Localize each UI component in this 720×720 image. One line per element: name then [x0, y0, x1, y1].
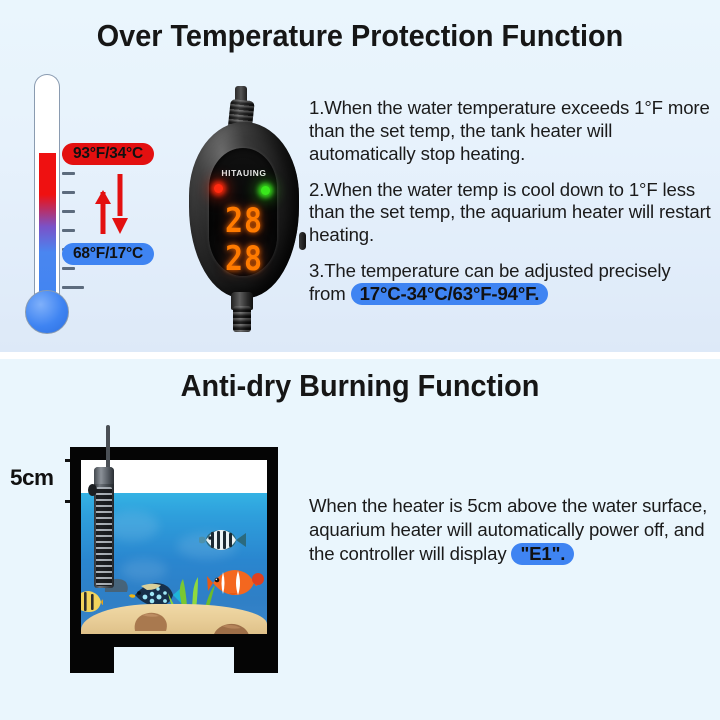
tank-leg-left	[70, 647, 114, 673]
heater-rod-cap	[94, 467, 114, 484]
temperature-range-highlight: 17°C-34°C/63°F-94°F.	[351, 283, 549, 305]
heater-controller-graphic: HITAUING 28 28	[183, 86, 305, 346]
display-current-temp: 28	[189, 202, 299, 241]
controller-body: HITAUING 28 28	[189, 122, 299, 298]
arrow-down-icon	[90, 172, 134, 236]
paragraph-1: 1.When the water temperature exceeds 1°F…	[309, 97, 711, 166]
over-temperature-section: Over Temperature Protection Function 93°…	[0, 0, 720, 352]
rock-left	[133, 610, 169, 632]
led-green-indicator	[261, 186, 270, 195]
heater-rod-cord	[106, 425, 110, 469]
product-infographic: Over Temperature Protection Function 93°…	[0, 0, 720, 720]
section-1-title: Over Temperature Protection Function	[25, 18, 695, 54]
heater-rod	[94, 467, 114, 588]
paragraph-3: 3.The temperature can be adjusted precis…	[309, 260, 711, 306]
section-divider	[0, 352, 720, 359]
paragraph-anti-dry-prefix: When the heater is 5cm above the water s…	[309, 495, 707, 564]
low-temperature-badge: 68°F/17°C	[62, 243, 154, 265]
thermometer-ticks	[62, 74, 88, 299]
temperature-cycle-arrows	[90, 172, 134, 236]
anti-dry-text-column: When the heater is 5cm above the water s…	[309, 494, 709, 567]
fish-striped	[199, 527, 247, 553]
brand-label: HITAUING	[189, 168, 299, 178]
thermometer-fluid	[39, 153, 56, 313]
high-temperature-badge: 93°F/34°C	[62, 143, 154, 165]
paragraph-anti-dry: When the heater is 5cm above the water s…	[309, 494, 709, 567]
led-red-indicator	[214, 184, 223, 193]
over-temperature-text-column: 1.When the water temperature exceeds 1°F…	[309, 97, 711, 319]
error-code-highlight: "E1".	[511, 543, 574, 565]
coral-red	[251, 571, 267, 589]
aquarium-graphic	[70, 447, 290, 673]
heater-rod-ribs	[96, 487, 112, 586]
power-cord-bottom	[233, 306, 251, 332]
thermometer-graphic	[18, 74, 78, 339]
measurement-indicator: 5cm	[10, 455, 70, 505]
section-2-title: Anti-dry Burning Function	[25, 368, 695, 404]
heater-suction-bracket	[88, 484, 97, 496]
fish-yellow	[81, 589, 103, 615]
tank-leg-right	[234, 647, 278, 673]
rock-right	[211, 621, 251, 634]
paragraph-2: 2.When the water temp is cool down to 1°…	[309, 179, 711, 248]
display-set-temp: 28	[189, 240, 299, 279]
measurement-label: 5cm	[10, 465, 54, 491]
controller-side-button[interactable]	[299, 232, 306, 250]
